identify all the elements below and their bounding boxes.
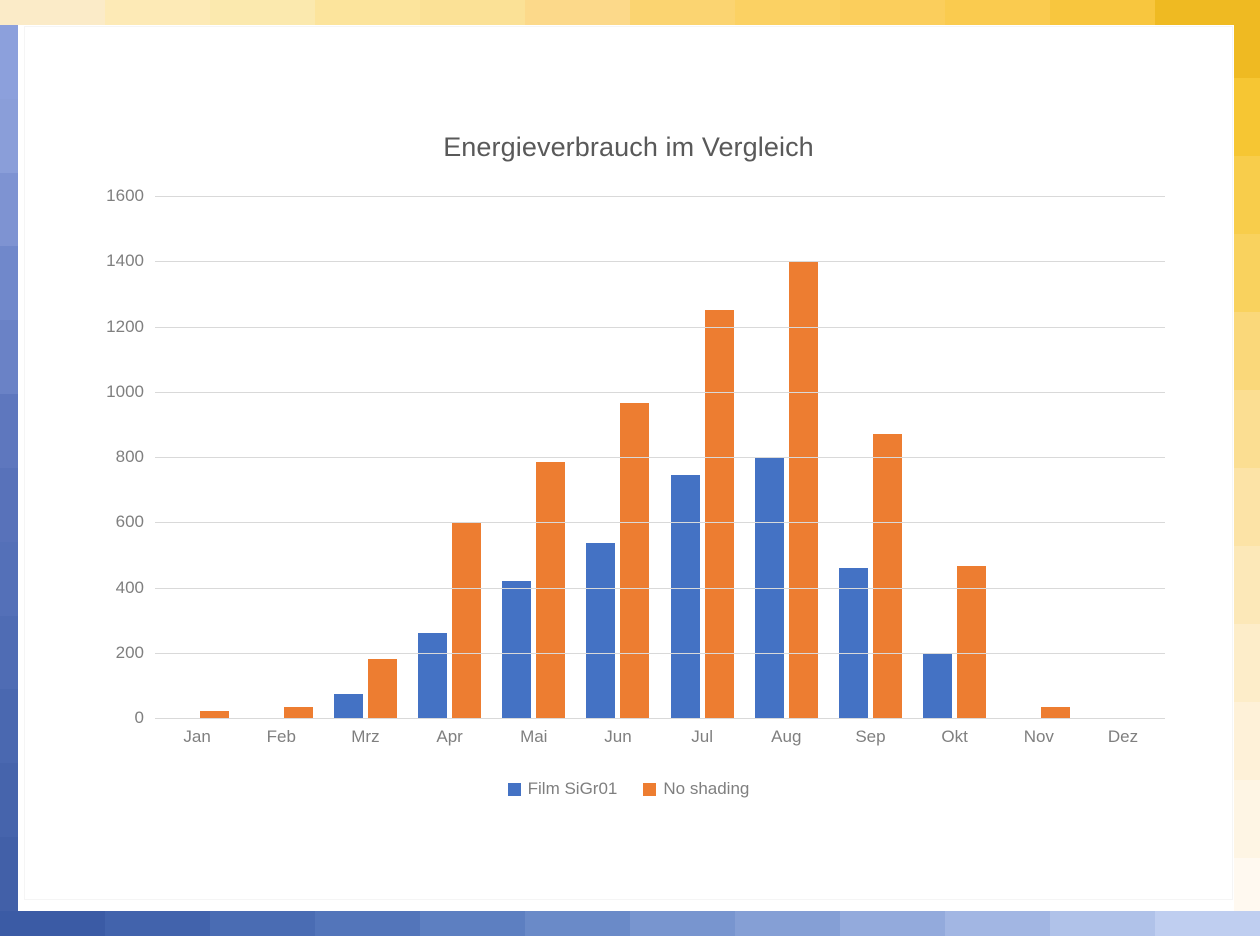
x-axis-tick-label: Mrz (323, 727, 407, 747)
decorative-border-right (1234, 0, 1260, 936)
chart-container[interactable]: Energieverbrauch im Vergleich 1600140012… (25, 27, 1232, 899)
legend-label: No shading (663, 779, 749, 799)
bar-apr-series0[interactable] (418, 633, 447, 718)
border-bottom-segment (630, 911, 735, 936)
legend-swatch-icon (508, 783, 521, 796)
y-axis-tick-label: 1400 (34, 251, 144, 271)
y-axis-tick-label: 1200 (34, 317, 144, 337)
border-left-segment (0, 468, 18, 542)
x-axis-tick-label: Jun (576, 727, 660, 747)
gridline-400 (155, 588, 1165, 589)
bar-jul-series0[interactable] (671, 475, 700, 718)
gridline-600 (155, 522, 1165, 523)
border-right-segment (1234, 234, 1260, 312)
bar-jul-series1[interactable] (705, 310, 734, 718)
border-left-segment (0, 394, 18, 468)
x-axis-labels: JanFebMrzAprMaiJunJulAugSepOktNovDez (155, 727, 1165, 747)
border-left-segment (0, 763, 18, 837)
legend-swatch-icon (643, 783, 656, 796)
plot-area: 16001400120010008006004002000 (155, 196, 1165, 718)
gridline-1600 (155, 196, 1165, 197)
bar-mai-series1[interactable] (536, 462, 565, 718)
border-bottom-segment (315, 911, 420, 936)
border-left-segment (0, 246, 18, 320)
x-axis-tick-label: Mai (492, 727, 576, 747)
border-top-segment (315, 0, 420, 25)
border-left-segment (0, 616, 18, 690)
x-axis-tick-label: Apr (408, 727, 492, 747)
gridline-1200 (155, 327, 1165, 328)
border-right-segment (1234, 702, 1260, 780)
border-bottom-segment (210, 911, 315, 936)
border-right-segment (1234, 0, 1260, 78)
border-left-segment (0, 320, 18, 394)
border-right-segment (1234, 156, 1260, 234)
border-left-segment (0, 99, 18, 173)
border-bottom-segment (525, 911, 630, 936)
y-axis-tick-label: 800 (34, 447, 144, 467)
legend-item-0[interactable]: Film SiGr01 (508, 779, 618, 799)
border-right-segment (1234, 624, 1260, 702)
gridline-1000 (155, 392, 1165, 393)
gridline-1400 (155, 261, 1165, 262)
legend-label: Film SiGr01 (528, 779, 618, 799)
bar-aug-series1[interactable] (789, 261, 818, 718)
border-bottom-segment (735, 911, 840, 936)
gridline-0 (155, 718, 1165, 719)
border-left-segment (0, 689, 18, 763)
y-axis-tick-label: 600 (34, 512, 144, 532)
border-left-segment (0, 25, 18, 99)
x-axis-tick-label: Sep (828, 727, 912, 747)
border-top-segment (0, 0, 105, 25)
bar-mrz-series1[interactable] (368, 659, 397, 718)
bar-sep-series0[interactable] (839, 568, 868, 718)
border-left-segment (0, 173, 18, 247)
decorative-border-top (0, 0, 1260, 25)
x-axis-tick-label: Jan (155, 727, 239, 747)
gridline-200 (155, 653, 1165, 654)
bar-mrz-series0[interactable] (334, 694, 363, 718)
gridline-800 (155, 457, 1165, 458)
border-bottom-segment (1050, 911, 1155, 936)
border-bottom-segment (840, 911, 945, 936)
border-left-segment (0, 542, 18, 616)
border-top-segment (210, 0, 315, 25)
border-bottom-segment (105, 911, 210, 936)
x-axis-tick-label: Feb (239, 727, 323, 747)
chart-legend[interactable]: Film SiGr01No shading (25, 779, 1232, 799)
border-right-segment (1234, 390, 1260, 468)
border-top-segment (420, 0, 525, 25)
border-right-segment (1234, 780, 1260, 858)
bar-feb-series1[interactable] (284, 707, 313, 718)
border-right-segment (1234, 312, 1260, 390)
border-top-segment (840, 0, 945, 25)
border-bottom-segment (420, 911, 525, 936)
border-top-segment (105, 0, 210, 25)
decorative-border-left (0, 25, 18, 911)
border-right-segment (1234, 546, 1260, 624)
x-axis-tick-label: Jul (660, 727, 744, 747)
y-axis-tick-label: 1600 (34, 186, 144, 206)
slide-canvas: Energieverbrauch im Vergleich 1600140012… (0, 0, 1260, 936)
border-top-segment (945, 0, 1050, 25)
legend-item-1[interactable]: No shading (643, 779, 749, 799)
bar-jun-series0[interactable] (586, 543, 615, 718)
decorative-border-bottom (0, 911, 1260, 936)
bar-apr-series1[interactable] (452, 522, 481, 718)
border-top-segment (630, 0, 735, 25)
y-axis-tick-label: 0 (34, 708, 144, 728)
border-right-segment (1234, 78, 1260, 156)
border-bottom-segment (945, 911, 1050, 936)
border-right-segment (1234, 468, 1260, 546)
bar-mai-series0[interactable] (502, 581, 531, 718)
x-axis-tick-label: Aug (744, 727, 828, 747)
border-bottom-segment (0, 911, 105, 936)
border-bottom-segment (1155, 911, 1260, 936)
bar-okt-series1[interactable] (957, 566, 986, 718)
x-axis-tick-label: Nov (997, 727, 1081, 747)
bar-okt-series0[interactable] (923, 653, 952, 718)
border-top-segment (735, 0, 840, 25)
bar-jun-series1[interactable] (620, 403, 649, 718)
y-axis-tick-label: 1000 (34, 382, 144, 402)
y-axis-tick-label: 200 (34, 643, 144, 663)
bar-nov-series1[interactable] (1041, 707, 1070, 718)
y-axis-tick-label: 400 (34, 578, 144, 598)
chart-title: Energieverbrauch im Vergleich (25, 132, 1232, 163)
border-top-segment (1050, 0, 1155, 25)
border-left-segment (0, 837, 18, 911)
x-axis-tick-label: Dez (1081, 727, 1165, 747)
bar-sep-series1[interactable] (873, 434, 902, 718)
border-top-segment (525, 0, 630, 25)
x-axis-tick-label: Okt (913, 727, 997, 747)
